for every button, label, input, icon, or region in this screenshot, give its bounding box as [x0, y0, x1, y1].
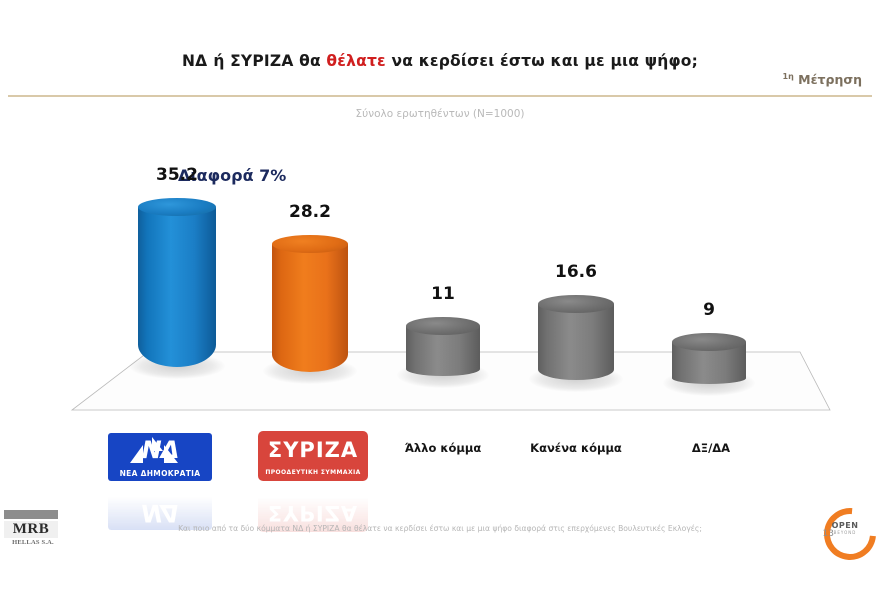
bar-value-label: 16.6	[538, 262, 614, 282]
category-label-no-party: Κανένα κόμμα	[521, 441, 631, 455]
mrb-subtitle: HELLAS S.A.	[4, 539, 62, 546]
bar-top-ellipse	[538, 295, 614, 313]
logo-nea-dimokratia: ΝΔ ΝΕΑ ΔΗΜΟΚΡΑΤΙΑ	[108, 433, 212, 481]
logo-nea-dimokratia-reflection: ΝΔ ΝΕΑ ΔΗΜΟΚΡΑΤΙΑ	[108, 482, 212, 530]
nd-subtitle: ΝΕΑ ΔΗΜΟΚΡΑΤΙΑ	[108, 469, 212, 478]
bar-chart: 35.2 28.2 11 16.6 9	[0, 130, 880, 430]
bar-no-party: 16.6	[538, 304, 614, 380]
bar-body	[538, 304, 614, 380]
measurement-label: Μέτρηση	[798, 72, 862, 87]
bar-value-label: 9	[672, 300, 746, 320]
syriza-name: ΣΥΡΙΖΑ	[258, 436, 368, 464]
measurement-ordinal: 1η	[783, 72, 794, 81]
bar-syriza: 28.2	[272, 244, 348, 372]
category-label-other-party: Άλλο κόμμα	[388, 441, 498, 455]
bar-body	[138, 207, 216, 367]
bar-top-ellipse	[138, 198, 216, 216]
title-highlight: θέλατε	[326, 52, 385, 70]
title-segment-1: ΝΔ	[182, 52, 207, 70]
logo-syriza: ΣΥΡΙΖΑ ΠΡΟΟΔΕΥΤΙΚΗ ΣΥΜΜΑΧΙΑ	[258, 431, 368, 481]
bar-value-label: 28.2	[272, 202, 348, 222]
footer-question: Και ποιο από τα δύο κόμματα ΝΔ ή ΣΥΡΙΖΑ …	[0, 524, 880, 533]
page-number: 13	[823, 529, 834, 539]
syriza-subtitle: ΠΡΟΟΔΕΥΤΙΚΗ ΣΥΜΜΑΧΙΑ	[258, 469, 368, 476]
header-divider	[8, 95, 872, 97]
bar-body	[272, 244, 348, 372]
slide: ΝΔή ΣΥΡΙΖΑ θα θέλατε να κερδίσει έστω κα…	[0, 0, 880, 591]
bar-dk-na: 9	[672, 342, 746, 384]
title-segment-3: να κερδίσει έστω και με μια ψήφο;	[392, 52, 699, 70]
bar-nd: 35.2	[138, 207, 216, 367]
bar-top-ellipse	[672, 333, 746, 351]
mrb-name: MRB	[4, 521, 58, 538]
sample-size-subtitle: Σύνολο ερωτηθέντων (Ν=1000)	[0, 108, 880, 120]
bar-value-label: 35.2	[138, 165, 216, 185]
logo-mrb: MRB HELLAS S.A.	[4, 510, 66, 546]
bar-top-ellipse	[406, 317, 480, 335]
bar-top-ellipse	[272, 235, 348, 253]
measurement-badge: 1η Μέτρηση	[783, 72, 862, 87]
bar-value-label: 11	[406, 284, 480, 304]
page-title: ΝΔή ΣΥΡΙΖΑ θα θέλατε να κερδίσει έστω κα…	[0, 52, 880, 70]
bar-other-party: 11	[406, 326, 480, 376]
title-segment-2: ή ΣΥΡΙΖΑ θα	[213, 52, 321, 70]
category-label-dk-na: ΔΞ/ΔΑ	[681, 441, 741, 455]
nd-monogram: ΝΔ	[108, 435, 212, 465]
mrb-bar	[4, 510, 58, 519]
